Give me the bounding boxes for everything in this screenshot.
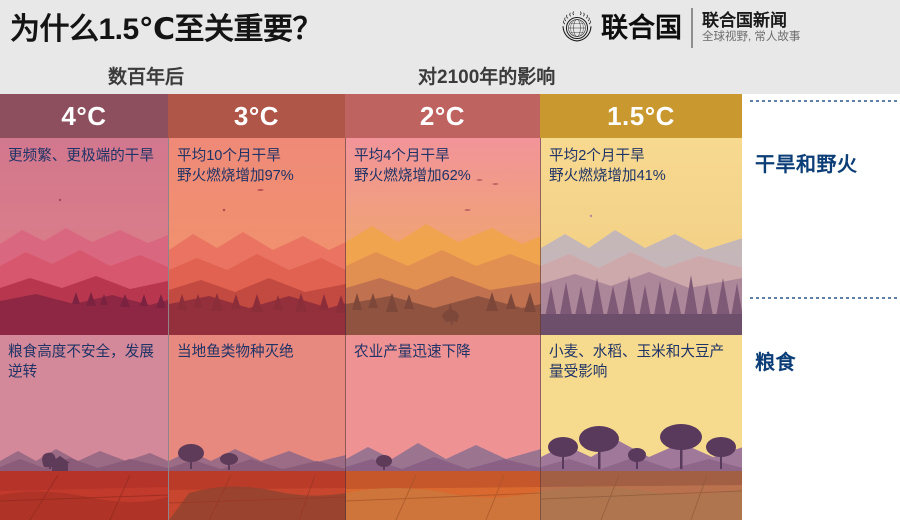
cell-text: 更频繁、更极端的干旱 — [8, 147, 162, 167]
cell-3c-drought: 平均10个月干旱 野火燃烧增加97% — [168, 138, 346, 335]
cell-text: 小麦、水稻、玉米和大豆产量受影响 — [549, 343, 737, 383]
column-header-1-5c: 1.5°C — [540, 94, 742, 138]
page-title: 为什么1.5℃至关重要？ — [10, 4, 322, 48]
header: 为什么1.5℃至关重要？ 数百年后 对2100年的影响 — [0, 0, 900, 94]
column-header-3c: 3°C — [168, 94, 345, 138]
row-food: 粮食高度不安全，发展逆转 — [0, 335, 742, 520]
organization-name: 联合国 — [601, 15, 682, 42]
cell-1-5c-food: 小麦、水稻、玉米和大豆产量受影响 — [540, 335, 742, 520]
subtitle-right: 对2100年的影响 — [418, 62, 555, 89]
un-emblem-icon — [560, 11, 594, 45]
cell-4c-food: 粮食高度不安全，发展逆转 — [0, 335, 168, 520]
cell-2c-food: 农业产量迅速下降 — [345, 335, 541, 520]
news-title: 联合国新闻 — [702, 12, 800, 29]
cell-text: 平均4个月干旱 野火燃烧增加62% — [354, 147, 535, 187]
subtitle-left: 数百年后 — [108, 62, 184, 89]
cell-text: 当地鱼类物种灭绝 — [177, 343, 340, 363]
cell-text: 粮食高度不安全，发展逆转 — [8, 343, 162, 383]
scene-4c-wildfire — [0, 138, 168, 335]
row-label-food: 粮食 — [755, 346, 796, 375]
cell-text: 平均2个月干旱 野火燃烧增加41% — [549, 147, 737, 187]
comparison-grid: 4°C 3°C 2°C 1.5°C — [0, 94, 742, 520]
brand-divider — [691, 8, 693, 48]
column-header-2c: 2°C — [345, 94, 540, 138]
cell-text: 农业产量迅速下降 — [354, 343, 535, 363]
divider-top — [750, 100, 900, 102]
brand-lockup: 联合国 联合国新闻 全球视野, 常人故事 — [560, 5, 800, 51]
row-label-drought-wildfire: 干旱和野火 — [755, 148, 858, 177]
cell-2c-drought: 平均4个月干旱 野火燃烧增加62% — [345, 138, 541, 335]
news-brand: 联合国新闻 全球视野, 常人故事 — [702, 12, 800, 44]
row-drought-wildfire: 更频繁、更极端的干旱 — [0, 138, 742, 335]
news-tagline: 全球视野, 常人故事 — [702, 32, 800, 44]
cell-1-5c-drought: 平均2个月干旱 野火燃烧增加41% — [540, 138, 742, 335]
temperature-header-row: 4°C 3°C 2°C 1.5°C — [0, 94, 742, 138]
divider-middle — [750, 297, 900, 299]
infographic-page: 为什么1.5℃至关重要？ 数百年后 对2100年的影响 — [0, 0, 900, 520]
row-label-panel: 干旱和野火 粮食 — [742, 94, 900, 520]
column-header-4c: 4°C — [0, 94, 168, 138]
cell-3c-food: 当地鱼类物种灭绝 — [168, 335, 346, 520]
cell-4c-drought: 更频繁、更极端的干旱 — [0, 138, 168, 335]
cell-text: 平均10个月干旱 野火燃烧增加97% — [177, 147, 340, 187]
